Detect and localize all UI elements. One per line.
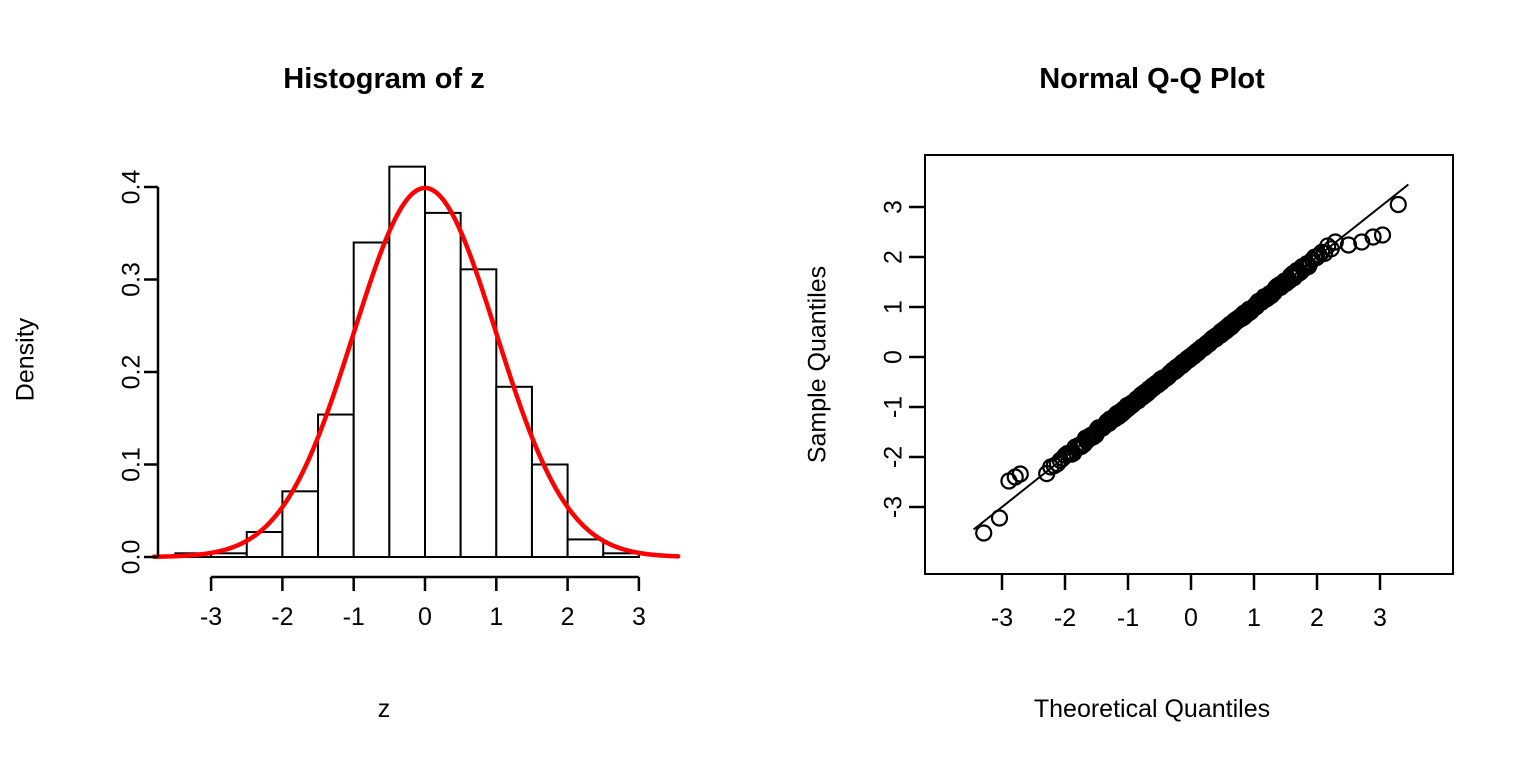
qq-y-axis-label: Sample Quantiles (804, 235, 833, 495)
x-axis-tick-label: -2 (271, 603, 293, 631)
x-axis-tick-label: 2 (561, 603, 575, 631)
x-axis-tick-label: 3 (1373, 604, 1387, 632)
y-axis-tick-label: 2 (880, 250, 908, 264)
x-axis-tick-label: 1 (1247, 604, 1261, 632)
qq-plot-area: -3-2-10123 -3-2-10123 (768, 0, 1536, 768)
qq-point (1375, 228, 1390, 243)
qq-point (976, 526, 991, 541)
y-axis-tick-label: -1 (880, 396, 908, 418)
histogram-title: Histogram of z (0, 63, 768, 96)
qq-y-axis: -3-2-10123 (880, 200, 925, 518)
histogram-plot-area: 0.00.10.20.30.4 -3-2-10123 (0, 0, 768, 768)
y-axis-tick-label: 0 (880, 350, 908, 364)
x-axis-tick-label: 0 (1184, 604, 1198, 632)
x-axis-tick-label: -1 (1117, 604, 1139, 632)
qq-data-points (976, 197, 1406, 541)
x-axis-tick-label: 2 (1310, 604, 1324, 632)
x-axis-tick-label: 3 (632, 603, 646, 631)
histogram-panel: Histogram of z Density z 0.00.10.20.30.4… (0, 0, 768, 768)
y-axis-tick-label: 0.4 (118, 170, 146, 205)
y-axis-tick-label: 0.1 (118, 447, 146, 482)
qq-x-axis: -3-2-10123 (991, 574, 1387, 632)
x-axis-tick-label: 1 (489, 603, 503, 631)
y-axis-tick-label: 0.3 (118, 262, 146, 297)
y-axis-tick-label: 1 (880, 300, 908, 314)
histogram-y-axis-label: Density (12, 290, 41, 430)
x-axis-tick-label: 0 (418, 603, 432, 631)
x-axis-tick-label: -3 (991, 604, 1013, 632)
histogram-bar (425, 213, 461, 557)
x-axis-tick-label: -1 (343, 603, 365, 631)
x-axis-tick-label: -3 (200, 603, 222, 631)
histogram-y-axis: 0.00.10.20.30.4 (118, 170, 158, 575)
y-axis-tick-label: 3 (880, 200, 908, 214)
qq-point (1391, 197, 1406, 212)
qq-point (1013, 467, 1028, 482)
qq-point (992, 511, 1007, 526)
qq-title: Normal Q-Q Plot (768, 63, 1536, 96)
histogram-bar (389, 167, 425, 557)
y-axis-tick-label: 0.2 (118, 355, 146, 390)
histogram-bar (496, 387, 532, 557)
histogram-bar (568, 539, 604, 557)
qq-x-axis-label: Theoretical Quantiles (768, 695, 1536, 724)
histogram-x-axis-label: z (0, 695, 768, 724)
y-axis-tick-label: 0.0 (118, 540, 146, 575)
histogram-bars (175, 167, 638, 557)
qq-panel: Normal Q-Q Plot Sample Quantiles Theoret… (768, 0, 1536, 768)
figure-canvas: Histogram of z Density z 0.00.10.20.30.4… (0, 0, 1536, 768)
histogram-x-axis: -3-2-10123 (200, 577, 646, 631)
y-axis-tick-label: -2 (880, 446, 908, 468)
x-axis-tick-label: -2 (1054, 604, 1076, 632)
histogram-bar (318, 415, 354, 557)
histogram-bar (354, 243, 390, 558)
y-axis-tick-label: -3 (880, 496, 908, 518)
